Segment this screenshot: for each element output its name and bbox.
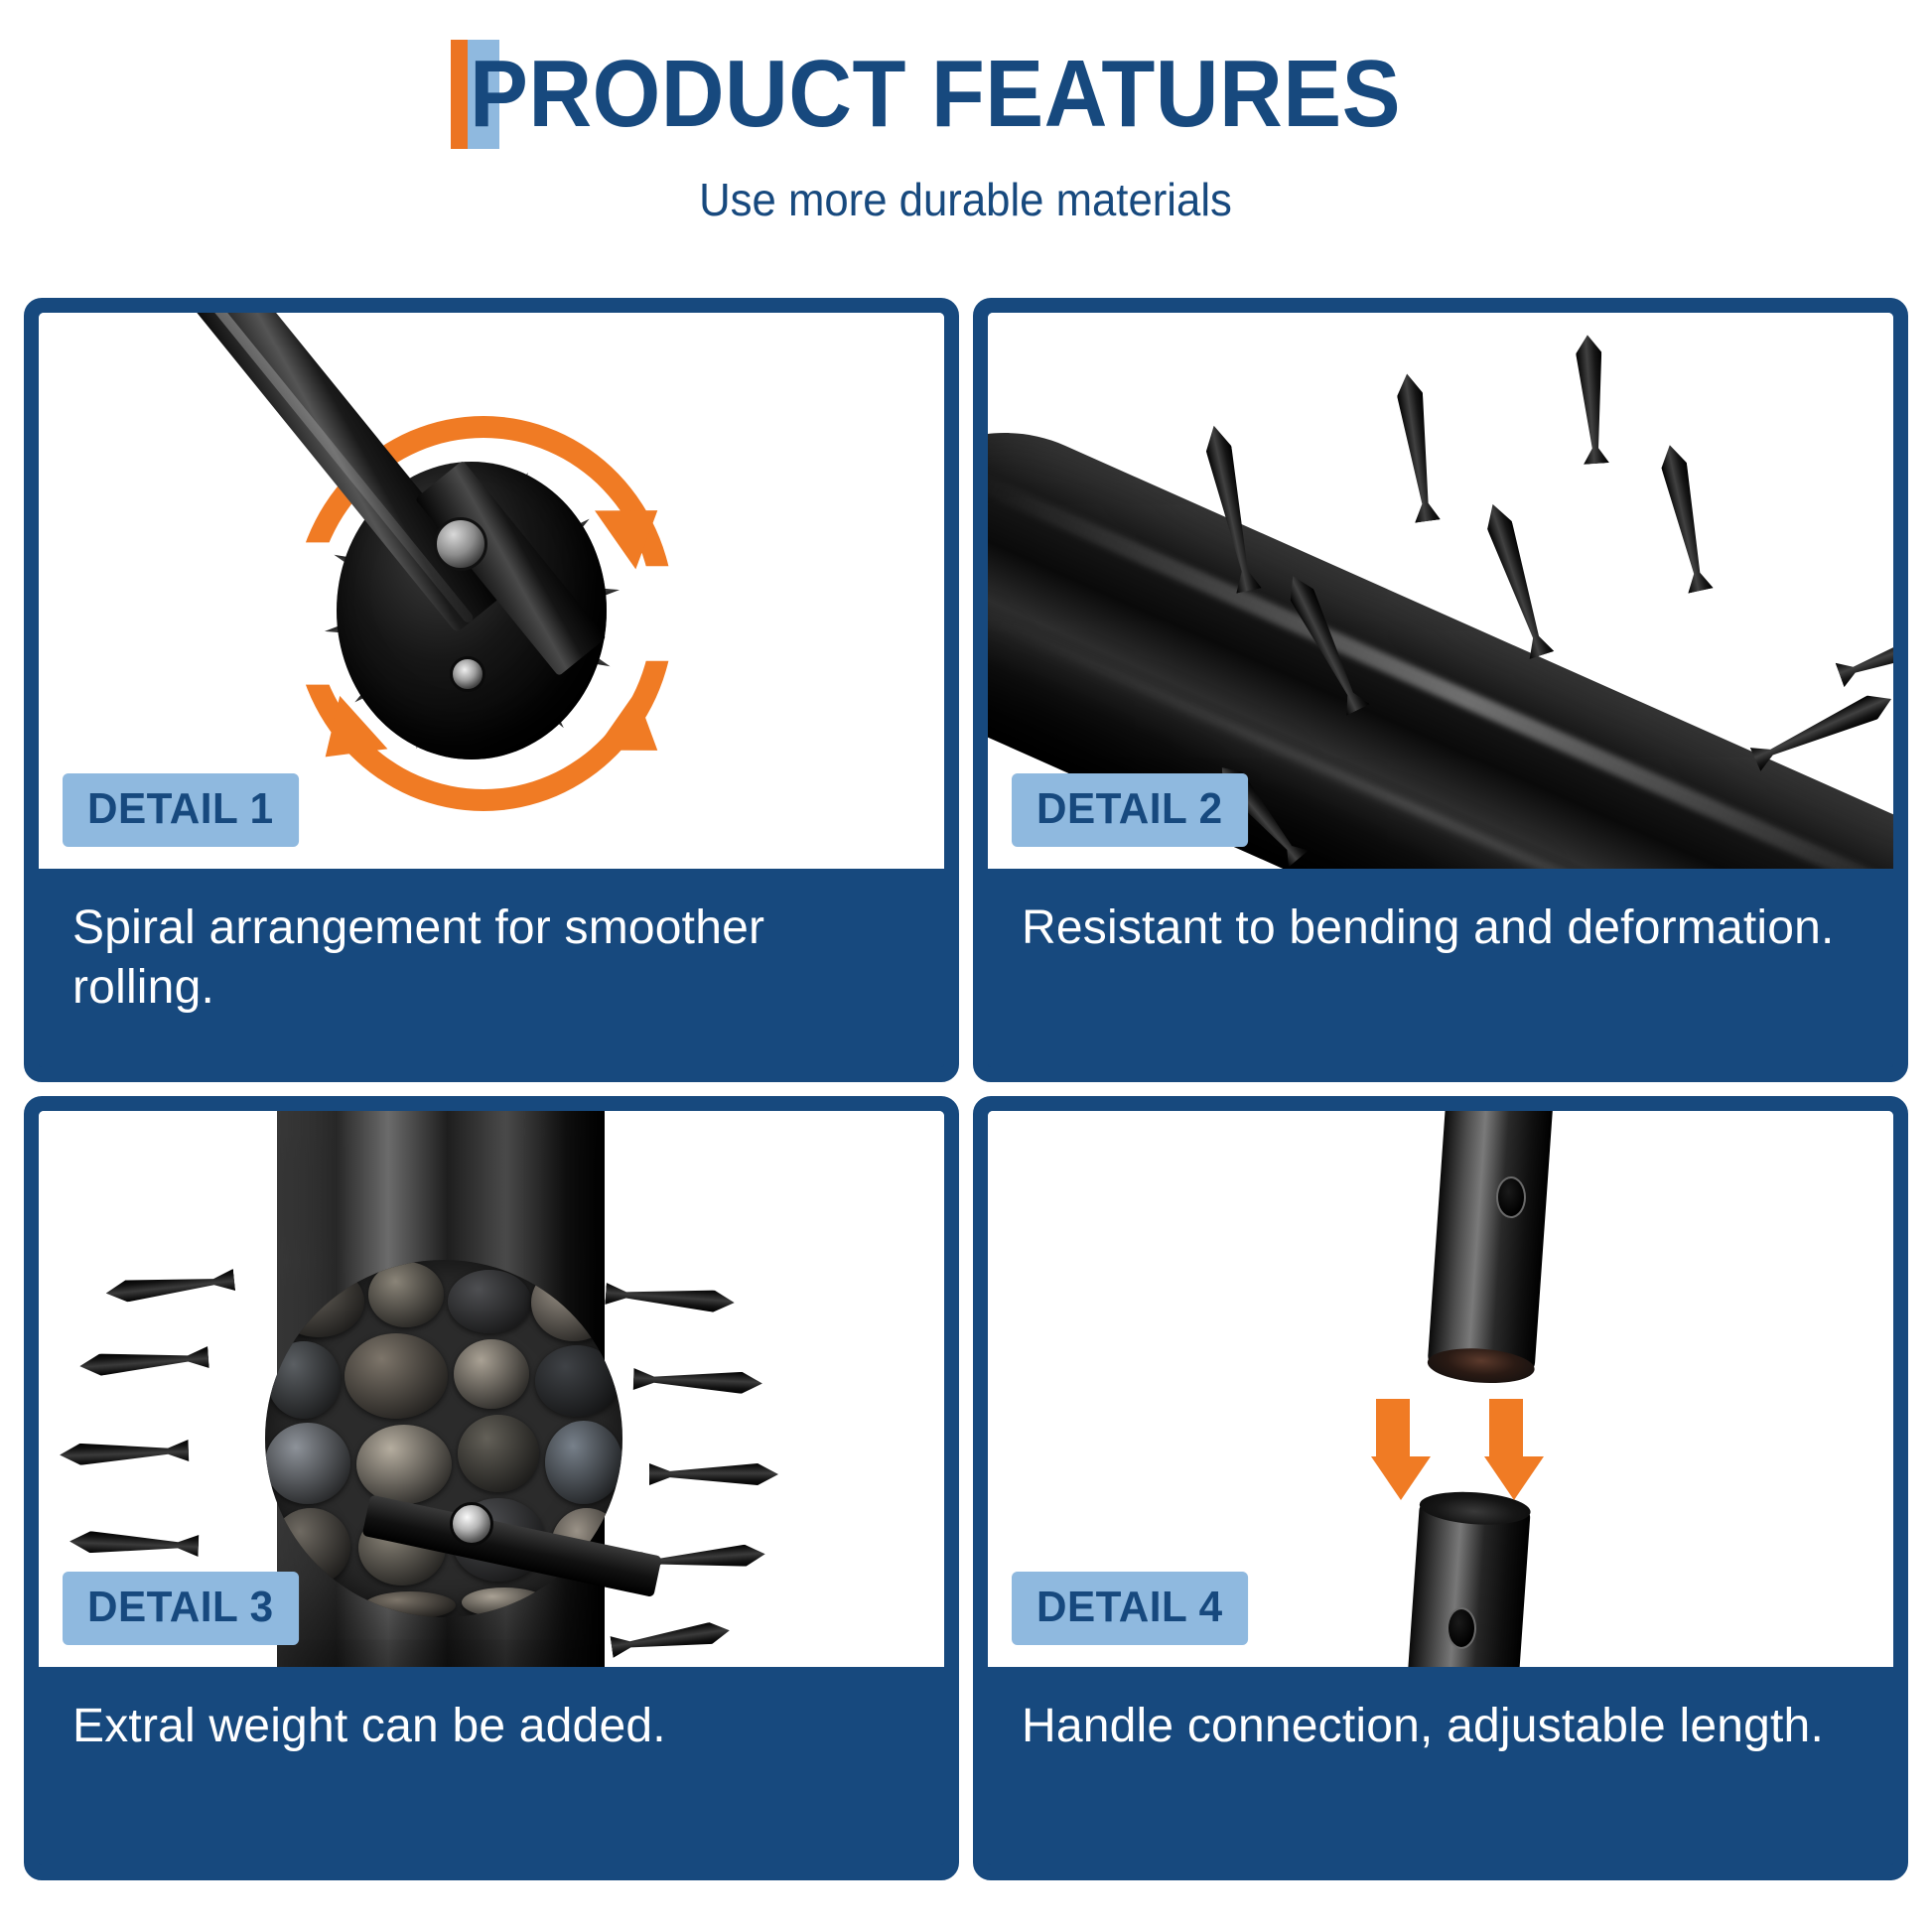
- river-rock: [267, 1341, 341, 1419]
- caption-detail-4: Handle connection, adjustable length.: [988, 1667, 1893, 1865]
- insert-arrow-left-icon: [1371, 1399, 1415, 1500]
- drum-spike: [105, 1269, 236, 1304]
- river-rock: [364, 1591, 456, 1617]
- drum-spike: [649, 1463, 778, 1485]
- feature-card-grid: DETAIL 1 Spiral arrangement for smoother…: [24, 298, 1908, 1906]
- tube-spike: [1575, 334, 1609, 464]
- drum-spike: [605, 1283, 735, 1313]
- insert-arrow-right-icon: [1484, 1399, 1528, 1500]
- drum-spike: [60, 1440, 190, 1466]
- river-rock: [345, 1333, 448, 1419]
- feature-image-detail-4: DETAIL 4: [988, 1111, 1893, 1667]
- upper-tube-pin-hole: [1496, 1176, 1526, 1218]
- tube-spike: [1836, 619, 1893, 687]
- page-subtitle: Use more durable materials: [700, 175, 1233, 224]
- river-rock: [462, 1587, 547, 1617]
- tube-spike: [1750, 687, 1893, 771]
- page-title-row: PRODUCT FEATURES: [451, 36, 1482, 153]
- feature-card-detail-1[interactable]: DETAIL 1 Spiral arrangement for smoother…: [24, 298, 959, 1082]
- feature-card-detail-3[interactable]: DETAIL 3 Extral weight can be added.: [24, 1096, 959, 1880]
- river-rock: [553, 1589, 617, 1617]
- river-rock: [265, 1423, 350, 1504]
- badge-detail-2: DETAIL 2: [1012, 773, 1248, 847]
- tube-spike: [1657, 443, 1714, 594]
- river-rock: [368, 1262, 444, 1327]
- river-rock: [356, 1425, 452, 1504]
- badge-detail-3: DETAIL 3: [63, 1572, 299, 1645]
- drum-arm-bolt: [450, 1502, 493, 1546]
- drum-spike: [69, 1530, 200, 1557]
- axle-nut: [434, 517, 487, 571]
- river-rock: [531, 1264, 617, 1341]
- river-rock: [454, 1339, 529, 1409]
- orange-accent-bar-icon: [451, 40, 468, 149]
- badge-detail-4: DETAIL 4: [1012, 1572, 1248, 1645]
- caption-detail-3: Extral weight can be added.: [39, 1667, 944, 1865]
- upper-handle-tube: [1427, 1111, 1553, 1376]
- feature-image-detail-2: DETAIL 2: [988, 313, 1893, 869]
- caption-detail-2: Resistant to bending and deformation.: [988, 869, 1893, 1067]
- header: PRODUCT FEATURES Use more durable materi…: [0, 0, 1932, 260]
- badge-detail-1: DETAIL 1: [63, 773, 299, 847]
- drum-spike: [633, 1368, 763, 1395]
- tube-spike: [1394, 372, 1441, 523]
- feature-image-detail-1: DETAIL 1: [39, 313, 944, 869]
- feature-image-detail-3: DETAIL 3: [39, 1111, 944, 1667]
- page-title: PRODUCT FEATURES: [470, 47, 1401, 142]
- river-rock: [273, 1266, 364, 1337]
- drum-spike: [610, 1619, 731, 1657]
- drum-spike: [79, 1346, 209, 1377]
- feature-card-detail-2[interactable]: DETAIL 2 Resistant to bending and deform…: [973, 298, 1908, 1082]
- river-rock: [535, 1345, 619, 1417]
- river-rock: [448, 1270, 531, 1333]
- feature-card-detail-4[interactable]: DETAIL 4 Handle connection, adjustable l…: [973, 1096, 1908, 1880]
- river-rock: [458, 1415, 539, 1492]
- product-features-infographic: PRODUCT FEATURES Use more durable materi…: [0, 0, 1932, 1932]
- caption-detail-1: Spiral arrangement for smoother rolling.: [39, 869, 944, 1067]
- lower-tube-pin-hole: [1447, 1607, 1476, 1649]
- bracket-bolt: [450, 656, 485, 692]
- river-rock: [545, 1421, 622, 1504]
